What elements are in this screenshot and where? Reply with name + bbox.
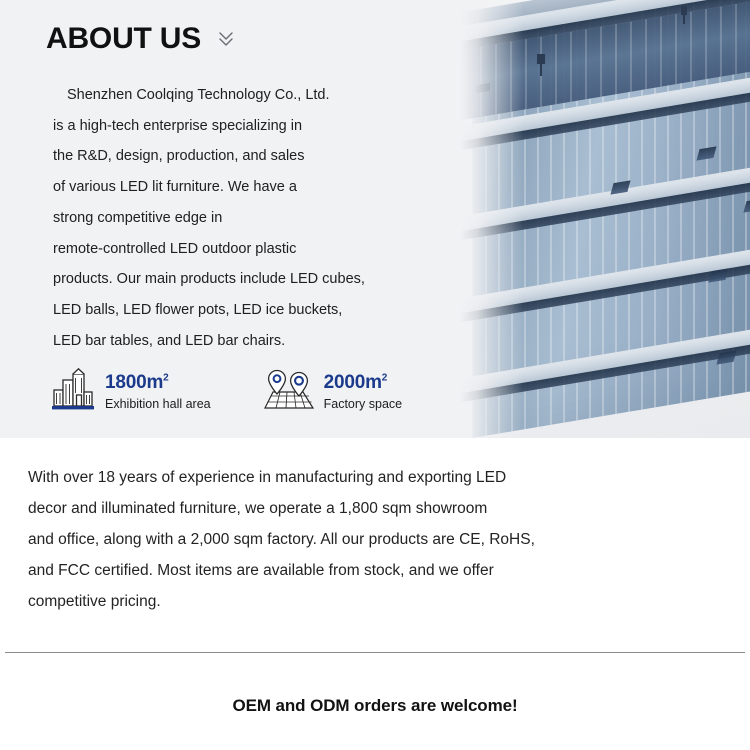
about-header: ABOUT US <box>46 24 235 54</box>
stats-row: 1800m2 Exhibition hall area <box>50 368 402 417</box>
summary-line: and office, along with a 2,000 sqm facto… <box>28 524 628 555</box>
summary-line: decor and illuminated furniture, we oper… <box>28 493 628 524</box>
about-line: LED balls, LED flower pots, LED ice buck… <box>53 295 433 326</box>
stat-value: 2000m2 <box>324 373 403 393</box>
about-line: products. Our main products include LED … <box>53 264 433 295</box>
summary-line: and FCC certified. Most items are availa… <box>28 555 628 586</box>
stat-number: 1800m <box>105 372 163 393</box>
about-line-text: Shenzhen Coolqing Technology Co., Ltd. <box>53 80 330 111</box>
stat-unit-exponent: 2 <box>163 373 168 384</box>
about-line: of various LED lit furniture. We have a <box>53 172 433 203</box>
oem-odm-headline: OEM and ODM orders are welcome! <box>0 696 750 716</box>
stat-label: Factory space <box>324 397 403 412</box>
rooftop-antenna-icon <box>540 54 542 76</box>
stat-number: 2000m <box>324 372 382 393</box>
summary-paragraph: With over 18 years of experience in manu… <box>28 462 628 617</box>
stat-exhibition-hall: 1800m2 Exhibition hall area <box>50 368 211 417</box>
company-building-photo <box>460 0 750 438</box>
stat-text: 1800m2 Exhibition hall area <box>105 373 211 412</box>
stat-value: 1800m2 <box>105 373 211 393</box>
about-line: LED bar tables, and LED bar chairs. <box>53 326 433 357</box>
section-divider <box>5 652 745 653</box>
summary-line: With over 18 years of experience in manu… <box>28 462 628 493</box>
about-line: remote-controlled LED outdoor plastic <box>53 234 433 265</box>
double-chevron-down-icon[interactable] <box>217 29 235 54</box>
stat-factory-space: 2000m2 Factory space <box>263 368 403 417</box>
about-line: the R&D, design, production, and sales <box>53 141 433 172</box>
rooftop-antenna-icon <box>683 6 685 24</box>
stat-text: 2000m2 Factory space <box>324 373 403 412</box>
about-us-page: ABOUT US Shenzhen Coolqing Technology Co… <box>0 0 750 750</box>
about-section: ABOUT US Shenzhen Coolqing Technology Co… <box>0 0 750 438</box>
map-location-pins-icon <box>263 368 315 417</box>
about-line: is a high-tech enterprise specializing i… <box>53 111 433 142</box>
stat-label: Exhibition hall area <box>105 397 211 412</box>
about-paragraph: Shenzhen Coolqing Technology Co., Ltd. i… <box>53 80 433 356</box>
about-line: strong competitive edge in <box>53 203 433 234</box>
page-title: ABOUT US <box>46 24 201 54</box>
summary-line: competitive pricing. <box>28 586 628 617</box>
building-illustration <box>460 0 750 438</box>
stat-unit-exponent: 2 <box>382 373 387 384</box>
office-building-icon <box>50 368 96 417</box>
about-line: Shenzhen Coolqing Technology Co., Ltd. <box>53 80 433 111</box>
